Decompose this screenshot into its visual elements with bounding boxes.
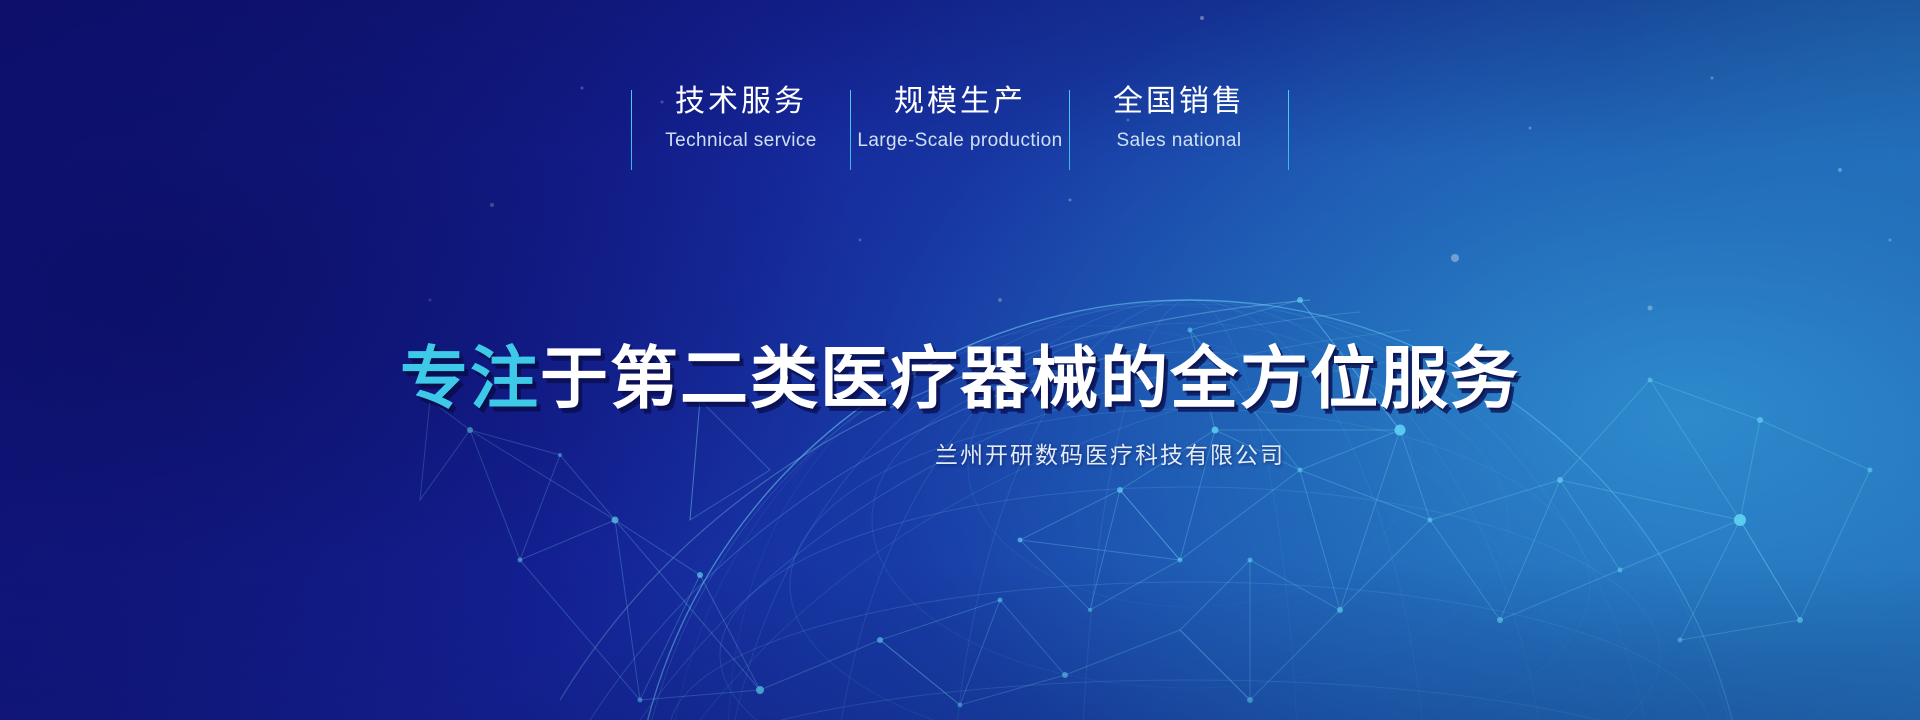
hero-banner: 技术服务 Technical service 规模生产 Large-Scale … [0, 0, 1920, 720]
feature-title-cn-1: 规模生产 [894, 82, 1026, 122]
headline-accent-text: 专注 [400, 340, 540, 419]
feature-title-en-1: Large-Scale production [857, 128, 1062, 154]
feature-title-en-0: Technical service [665, 128, 816, 154]
feature-title-cn-2: 全国销售 [1113, 82, 1245, 122]
company-name: 兰州开研数码医疗科技有限公司 [0, 436, 1920, 470]
feature-nav: 技术服务 Technical service 规模生产 Large-Scale … [0, 70, 1920, 190]
feature-item-sales-national[interactable]: 全国销售 Sales national [1070, 70, 1288, 190]
page-title: 专注于第二类医疗器械的全方位服务 [0, 338, 1920, 422]
headline-block: 专注于第二类医疗器械的全方位服务 兰州开研数码医疗科技有限公司 [0, 338, 1920, 470]
feature-divider-3 [1288, 90, 1289, 170]
feature-title-cn-0: 技术服务 [675, 82, 807, 122]
feature-item-large-scale-production[interactable]: 规模生产 Large-Scale production [851, 70, 1069, 190]
headline-main-text: 于第二类医疗器械的全方位服务 [540, 340, 1520, 419]
feature-title-en-2: Sales national [1117, 128, 1242, 154]
feature-item-technical-service[interactable]: 技术服务 Technical service [632, 70, 850, 190]
